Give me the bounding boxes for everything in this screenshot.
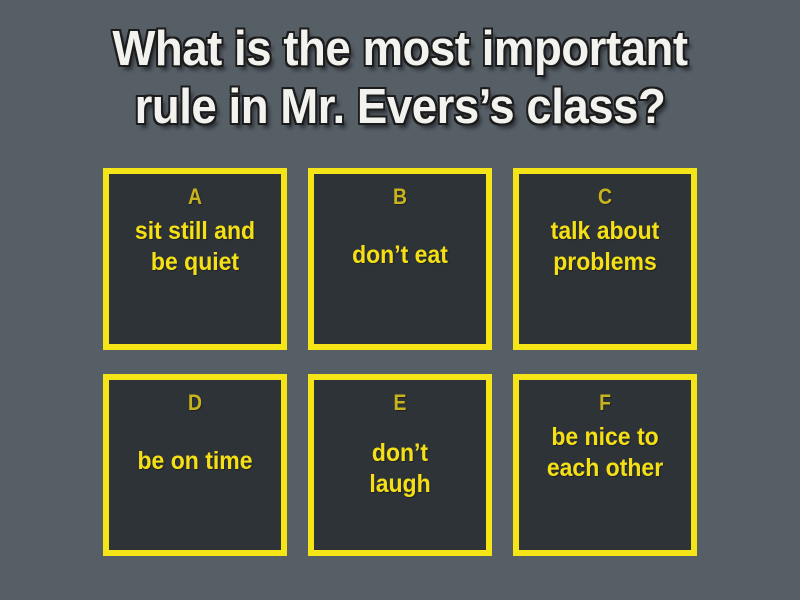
answer-text-d: be on time [116,446,274,477]
answer-text-c-line-1: talk about [531,216,678,247]
answer-text-f-line-1: be nice to [531,422,678,453]
answer-text-c: talk about problems [526,216,684,278]
answer-text-b: don’t eat [321,240,479,271]
answer-text-a-line-1: sit still and [121,216,268,247]
answer-text-e-line-2: laugh [326,469,473,500]
quiz-slide: What is the most important rule in Mr. E… [0,0,800,600]
answer-card-a[interactable]: A sit still and be quiet [103,168,287,350]
answer-text-b-line-1: don’t eat [326,240,473,271]
answer-card-d[interactable]: D be on time [103,374,287,556]
answer-letter-d: D [119,392,270,414]
answer-text-f-line-2: each other [531,453,678,484]
answer-text-a-line-2: be quiet [121,247,268,278]
question-title-line-1: What is the most important [28,20,772,78]
answer-card-c[interactable]: C talk about problems [513,168,697,350]
answer-grid: A sit still and be quiet B don’t eat C t… [103,168,697,556]
answer-text-c-line-2: problems [531,247,678,278]
answer-text-a: sit still and be quiet [116,216,274,278]
answer-card-f[interactable]: F be nice to each other [513,374,697,556]
answer-text-e: don’t laugh [321,438,479,500]
answer-text-f: be nice to each other [526,422,684,484]
question-title-line-2: rule in Mr. Evers’s class? [28,78,772,136]
answer-letter-e: E [324,392,475,414]
answer-card-e[interactable]: E don’t laugh [308,374,492,556]
question-title: What is the most important rule in Mr. E… [0,20,800,136]
answer-letter-f: F [529,392,680,414]
answer-text-d-line-1: be on time [121,446,268,477]
answer-letter-c: C [529,186,680,208]
answer-text-e-line-1: don’t [326,438,473,469]
answer-letter-b: B [324,186,475,208]
answer-card-b[interactable]: B don’t eat [308,168,492,350]
answer-letter-a: A [119,186,270,208]
